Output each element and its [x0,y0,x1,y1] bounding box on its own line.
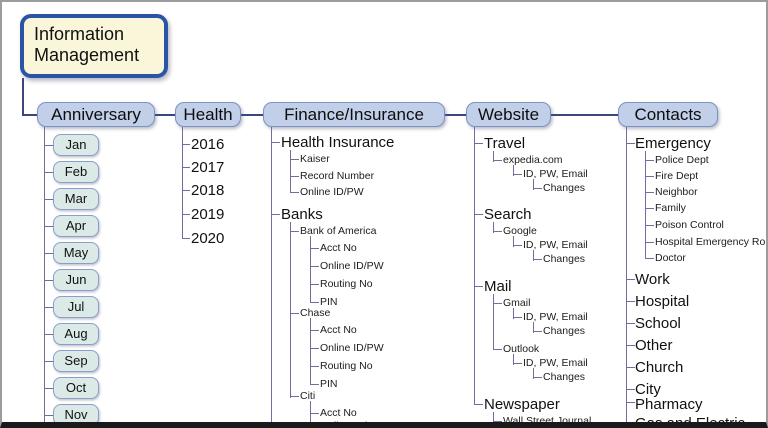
website-item-mail[interactable]: Mail [484,279,512,294]
category-header-website[interactable]: Website [466,102,551,127]
finance-trunk-l3-citi [310,401,311,428]
finance-tick [271,214,280,215]
finance-item-online-id-pw[interactable]: Online ID/PW [320,343,384,354]
contacts-item-gas-and-electric[interactable]: Gas and Electric [635,416,745,428]
finance-tick [271,142,280,143]
finance-tick [310,266,319,267]
website-tick [513,317,522,318]
finance-item-online-id-pw[interactable]: Online ID/PW [320,421,384,428]
contacts-item-pharmacy[interactable]: Pharmacy [635,397,703,412]
finance-trunk-l3-boa [310,236,311,303]
root-node-line-1: Information [34,24,164,45]
month-pill-feb[interactable]: Feb [53,161,99,183]
finance-tick [290,231,299,232]
website-item-travel[interactable]: Travel [484,136,525,151]
finance-trunk-l1 [271,127,272,428]
website-tick [533,331,542,332]
website-tick [513,363,522,364]
website-item-outlook[interactable]: Outlook [503,344,539,355]
contacts-item-fire-dept[interactable]: Fire Dept [655,171,698,182]
month-pill-jan[interactable]: Jan [53,134,99,156]
finance-item-acct-no[interactable]: Acct No [320,325,357,336]
finance-item-record-number[interactable]: Record Number [300,171,374,182]
health-year-2017[interactable]: 2017 [191,160,224,175]
category-header-finance-insurance[interactable]: Finance/Insurance [263,102,445,127]
finance-item-chase[interactable]: Chase [300,308,330,319]
website-item-changes[interactable]: Changes [543,183,585,194]
contacts-tick [645,225,654,226]
finance-tick [290,192,299,193]
website-tick [493,421,502,422]
contacts-tick [626,389,635,390]
website-trunk-l1 [474,127,475,405]
website-tick [493,231,502,232]
website-tick [493,160,502,161]
website-item-changes[interactable]: Changes [543,372,585,383]
category-header-health[interactable]: Health [175,102,241,127]
category-link-website-contacts [550,114,619,116]
health-tick [182,144,190,145]
contacts-tick [626,323,635,324]
website-item-expedia-com[interactable]: expedia.com [503,155,563,166]
health-year-2020[interactable]: 2020 [191,231,224,246]
mindmap-canvas: Information Management Anniversary Healt… [2,2,766,422]
contacts-tick [626,367,635,368]
contacts-tick [645,192,654,193]
website-tick [533,377,542,378]
website-item-changes[interactable]: Changes [543,254,585,265]
contacts-tick [645,242,654,243]
website-tick [493,349,502,350]
finance-tick [310,248,319,249]
finance-item-health-insurance[interactable]: Health Insurance [281,135,394,150]
website-item-search[interactable]: Search [484,207,532,222]
website-tick [474,143,483,144]
month-pill-sep[interactable]: Sep [53,350,99,372]
website-tick [533,188,542,189]
contacts-item-other[interactable]: Other [635,338,673,353]
root-connector-vertical [22,78,24,115]
finance-item-pin[interactable]: PIN [320,379,338,390]
finance-tick [310,426,319,427]
contacts-tick [645,208,654,209]
contacts-item-work[interactable]: Work [635,272,670,287]
month-pill-jun[interactable]: Jun [53,269,99,291]
root-node-line-2: Management [34,45,164,66]
contacts-item-school[interactable]: School [635,316,681,331]
contacts-tick [645,176,654,177]
finance-trunk-l3-chase [310,318,311,385]
health-tick [182,214,190,215]
contacts-tick [626,143,635,144]
contacts-tick [626,301,635,302]
contacts-item-city[interactable]: City [635,382,661,397]
finance-tick [290,176,299,177]
health-year-2018[interactable]: 2018 [191,183,224,198]
finance-item-online-id-pw[interactable]: Online ID/PW [300,187,364,198]
website-item-changes[interactable]: Changes [543,326,585,337]
contacts-tick [626,279,635,280]
health-year-2016[interactable]: 2016 [191,137,224,152]
contacts-tick [645,258,654,259]
contacts-item-family[interactable]: Family [655,203,686,214]
finance-item-citi[interactable]: Citi [300,391,315,402]
finance-tick [310,384,319,385]
finance-tick [290,396,299,397]
month-pill-aug[interactable]: Aug [53,323,99,345]
contacts-item-emergency[interactable]: Emergency [635,136,711,151]
contacts-item-poison-control[interactable]: Poison Control [655,220,724,231]
category-link-finance-website [444,114,467,116]
root-connector-elbow [22,114,38,116]
month-pill-oct[interactable]: Oct [53,377,99,399]
month-pill-mar[interactable]: Mar [53,188,99,210]
contacts-tick [645,160,654,161]
finance-tick [290,159,299,160]
finance-tick [290,313,299,314]
month-pill-nov[interactable]: Nov [53,404,99,426]
contacts-item-doctor[interactable]: Doctor [655,253,686,264]
health-tick [182,190,190,191]
month-pill-apr[interactable]: Apr [53,215,99,237]
contacts-item-neighbor[interactable]: Neighbor [655,187,698,198]
finance-tick [310,302,319,303]
website-item-google[interactable]: Google [503,226,537,237]
finance-item-routing-no[interactable]: Routing No [320,279,373,290]
finance-item-routing-no[interactable]: Routing No [320,361,373,372]
health-tick [182,238,190,239]
finance-trunk-l2-hi [290,150,291,193]
month-pill-jul[interactable]: Jul [53,296,99,318]
finance-item-acct-no[interactable]: Acct No [320,408,357,419]
contacts-item-police-dept[interactable]: Police Dept [655,155,709,166]
finance-tick [310,330,319,331]
contacts-tick [626,345,635,346]
finance-tick [310,348,319,349]
website-tick [474,286,483,287]
contacts-item-church[interactable]: Church [635,360,683,375]
contacts-tick [626,423,635,424]
category-header-anniversary[interactable]: Anniversary [37,102,155,127]
root-node-information-management[interactable]: Information Management [20,14,168,78]
finance-item-kaiser[interactable]: Kaiser [300,154,330,165]
health-year-2019[interactable]: 2019 [191,207,224,222]
finance-item-banks[interactable]: Banks [281,207,323,222]
finance-trunk-l2-banks [290,222,291,398]
website-tick [513,174,522,175]
website-item-gmail[interactable]: Gmail [503,298,530,309]
website-tick [533,259,542,260]
website-item-wall-street-journal[interactable]: Wall Street Journal [503,416,591,427]
finance-tick [310,413,319,414]
finance-item-acct-no[interactable]: Acct No [320,243,357,254]
finance-item-online-id-pw[interactable]: Online ID/PW [320,261,384,272]
finance-tick [310,284,319,285]
contacts-item-hospital-emergency-room[interactable]: Hospital Emergency Ro [655,237,765,248]
contacts-trunk-l1 [626,127,627,428]
month-pill-may[interactable]: May [53,242,99,264]
health-tick [182,167,190,168]
category-header-contacts[interactable]: Contacts [618,102,718,127]
website-item-newspaper[interactable]: Newspaper [484,397,560,412]
website-tick [513,245,522,246]
diagram-frame: Information Management Anniversary Healt… [0,0,768,428]
finance-item-bank-of-america[interactable]: Bank of America [300,226,376,237]
website-tick [474,404,483,405]
contacts-item-hospital[interactable]: Hospital [635,294,689,309]
website-tick [493,303,502,304]
category-link-health-finance [240,114,264,116]
category-link-anniversary-health [154,114,176,116]
contacts-tick [626,402,635,403]
website-tick [474,214,483,215]
finance-tick [310,366,319,367]
